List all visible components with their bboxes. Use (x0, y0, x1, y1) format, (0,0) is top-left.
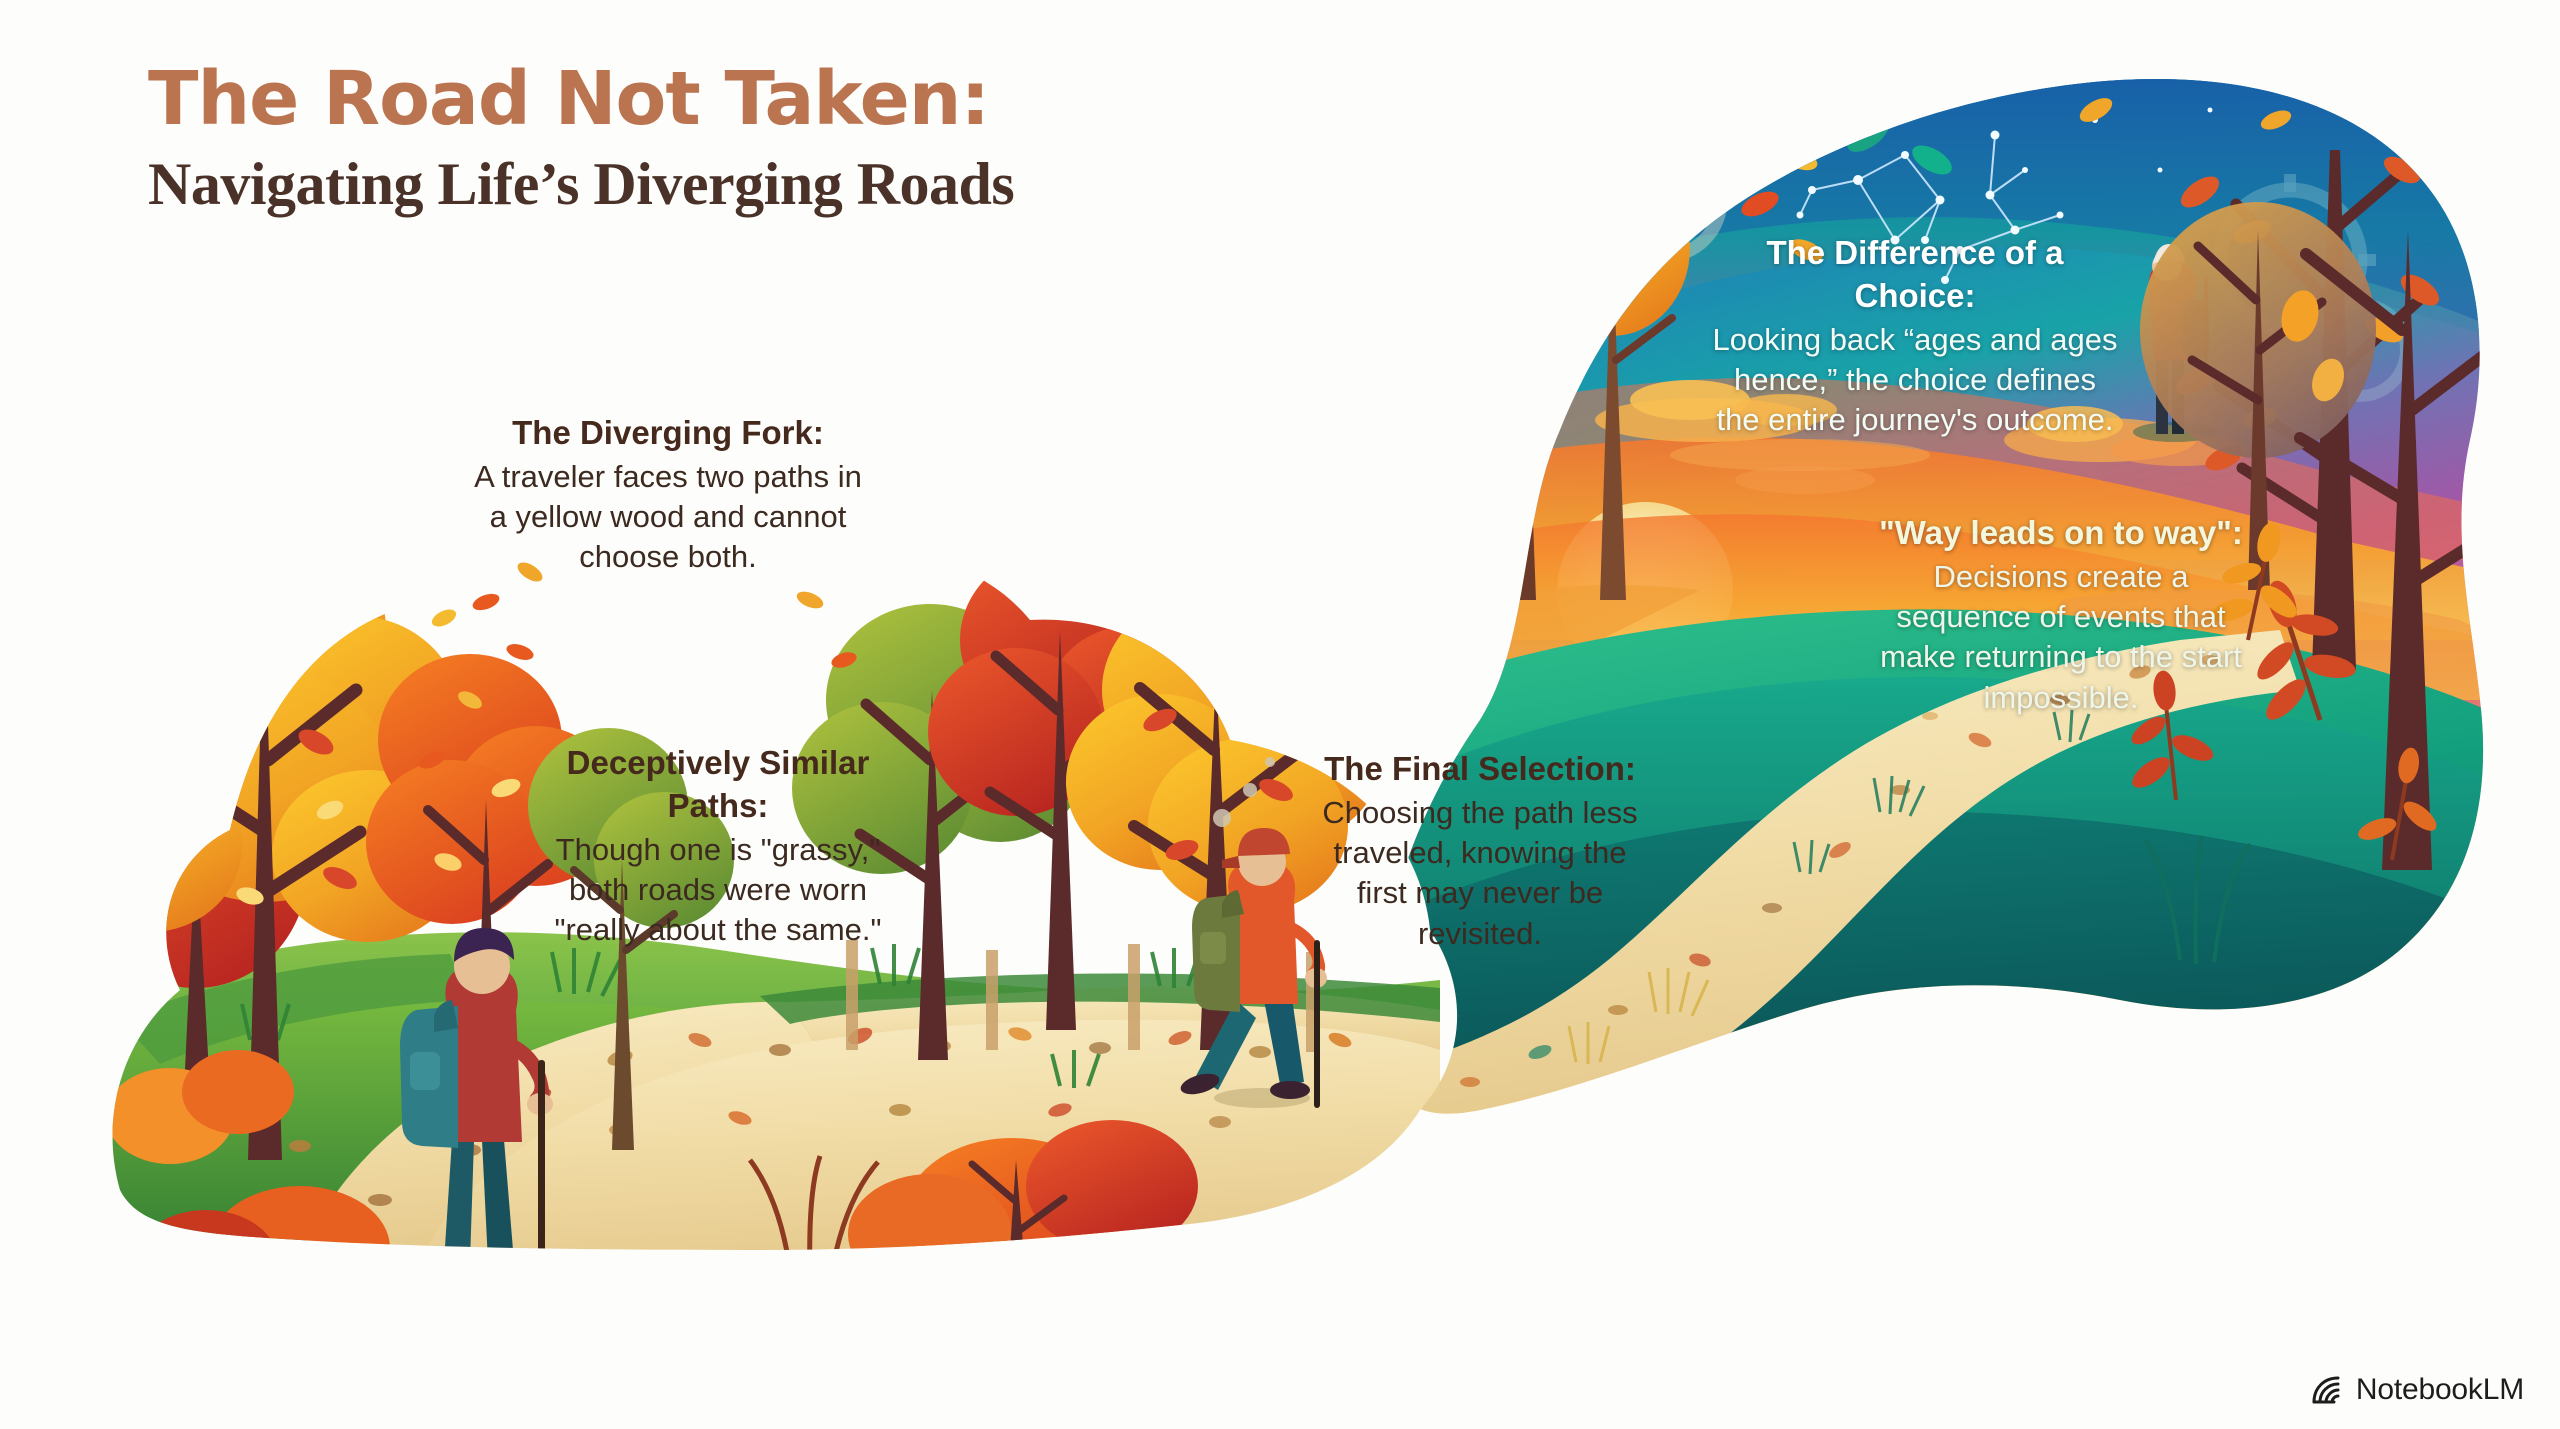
callout-heading: "Way leads on to way": (1866, 512, 2256, 555)
notebooklm-watermark: NotebookLM (2310, 1373, 2524, 1407)
page-title: The Road Not Taken: (148, 62, 1298, 137)
callout-difference-of-a-choice: The Difference of a Choice: Looking back… (1710, 232, 2120, 441)
callout-body: A traveler faces two paths in a yellow w… (468, 457, 868, 578)
callout-body: Looking back “ages and ages hence,” the … (1710, 320, 2120, 441)
infographic-canvas: The Road Not Taken: Navigating Life’s Di… (0, 0, 2560, 1429)
callout-way-leads-on-to-way: "Way leads on to way": Decisions create … (1866, 512, 2256, 718)
callout-heading: The Diverging Fork: (468, 412, 868, 455)
callout-heading: The Difference of a Choice: (1710, 232, 2120, 318)
notebooklm-spiral-icon (2310, 1374, 2346, 1406)
page-subtitle: Navigating Life’s Diverging Roads (148, 153, 1298, 216)
callout-body: Though one is "grassy," both roads were … (538, 830, 898, 951)
callout-body: Choosing the path less traveled, knowing… (1305, 793, 1655, 954)
callout-heading: The Final Selection: (1305, 748, 1655, 791)
callout-body: Decisions create a sequence of events th… (1866, 557, 2256, 718)
title-block: The Road Not Taken: Navigating Life’s Di… (148, 62, 1298, 216)
autumn-tree-blob-left2 (1364, 152, 1532, 610)
callout-heading: Deceptively Similar Paths: (538, 742, 898, 828)
callout-deceptively-similar-paths: Deceptively Similar Paths: Though one is… (538, 742, 898, 951)
callout-diverging-fork: The Diverging Fork: A traveler faces two… (468, 412, 868, 578)
callout-final-selection: The Final Selection: Choosing the path l… (1305, 748, 1655, 954)
notebooklm-label: NotebookLM (2356, 1373, 2524, 1407)
